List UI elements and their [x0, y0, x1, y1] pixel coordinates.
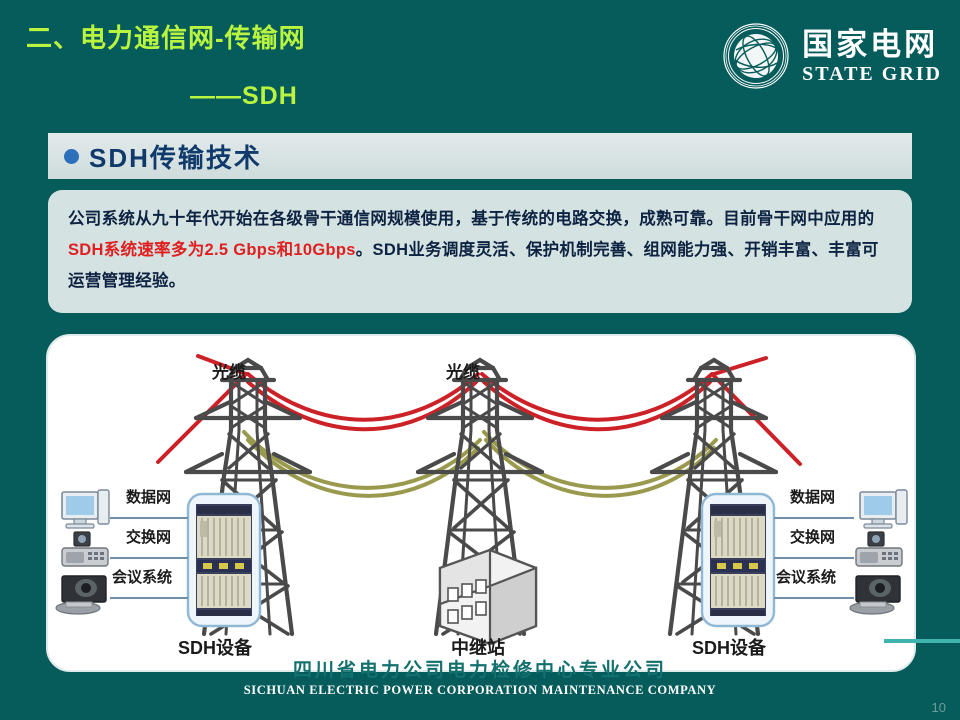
footer-accent-bar: [884, 639, 960, 643]
page-title: 二、电力通信网-传输网: [26, 18, 306, 55]
video-conference-camera-icon-right: [850, 576, 900, 614]
service-label-right-0: 数据网: [790, 486, 835, 507]
sdh-rack-left: [188, 494, 260, 626]
cable-label-left: 光缆: [212, 358, 246, 383]
section-header-bar: SDH传输技术: [48, 133, 912, 179]
service-label-left-2: 会议系统: [112, 566, 172, 587]
presentation-slide: 二、电力通信网-传输网 ——SDH 国家电网 STATE GRID: [0, 0, 960, 720]
info-panel: 公司系统从九十年代开始在各级骨干通信网规模使用，基于传统的电路交换，成熟可靠。目…: [48, 190, 912, 313]
power-conductor-lines: [244, 432, 716, 496]
brand-name-en: STATE GRID: [802, 64, 942, 84]
state-grid-logo: 国家电网 STATE GRID: [722, 22, 942, 90]
network-diagram-panel: 光缆 光缆 数据网 交换网 会议系统 数据网 交换网 会议系统 SDH设备 中继…: [46, 334, 916, 672]
desktop-computer-icon-left: [62, 490, 109, 528]
info-text-highlight: SDH系统速率多为2.5 Gbps和10Gbps: [68, 241, 356, 259]
page-number: 10: [932, 700, 946, 715]
desk-phone-icon-left: [62, 532, 108, 566]
service-label-right-1: 交换网: [790, 526, 835, 547]
info-paragraph: 公司系统从九十年代开始在各级骨干通信网规模使用，基于传统的电路交换，成熟可靠。目…: [68, 204, 892, 297]
service-label-right-2: 会议系统: [776, 566, 836, 587]
relay-station-building-icon: [440, 550, 536, 644]
service-label-left-1: 交换网: [126, 526, 171, 547]
cable-label-right: 光缆: [446, 358, 480, 383]
sdh-rack-right: [702, 494, 774, 626]
section-heading: SDH传输技术: [89, 138, 262, 175]
network-diagram-svg: [48, 336, 914, 670]
service-label-left-0: 数据网: [126, 486, 171, 507]
video-conference-camera-icon-left: [56, 576, 106, 614]
page-subtitle: ——SDH: [190, 82, 298, 111]
state-grid-globe-emblem: [722, 22, 790, 90]
desktop-computer-icon-right: [860, 490, 907, 528]
bullet-icon: [64, 149, 79, 164]
brand-name-cn: 国家电网: [802, 29, 942, 60]
footer-company-cn: 四川省电力公司电力检修中心专业公司: [0, 655, 960, 682]
desk-phone-icon-right: [856, 532, 902, 566]
info-text-part1: 公司系统从九十年代开始在各级骨干通信网规模使用，基于传统的电路交换，成熟可靠。目…: [68, 210, 874, 228]
footer-company-en: SICHUAN ELECTRIC POWER CORPORATION MAINT…: [0, 683, 960, 698]
